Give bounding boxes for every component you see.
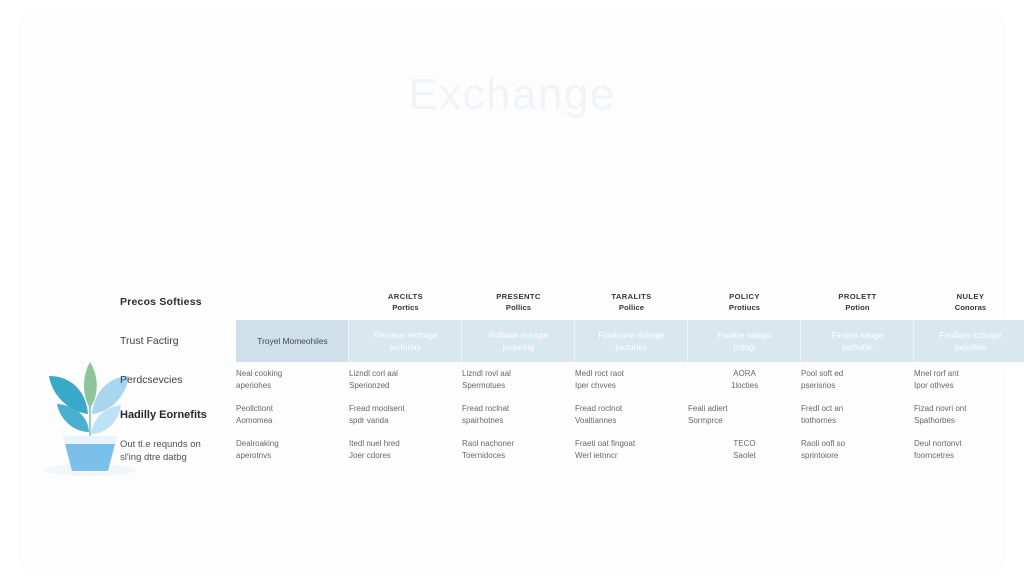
- header-spacer: [236, 284, 349, 320]
- cell-r4-c4-top: Fraeti oat fingoat: [575, 439, 635, 448]
- column-header-2-sub: Pollics: [462, 302, 575, 313]
- table-row-highlighted: Trust Factirg Troyel Momeohiles Timoeus …: [120, 320, 1024, 362]
- table-row: Out tl.e requnds on sl'ing dtre datbg De…: [120, 432, 1024, 478]
- band-cell-4-sub: jacturies: [575, 341, 688, 353]
- cell-r3-c2-top: Fread moolsent: [349, 404, 405, 413]
- cell-r3-c1-top: Peollctiont: [236, 404, 273, 413]
- cell-r4-c7-sub: foorncetres: [914, 450, 1024, 462]
- cell-r3-c2-sub: spdr vanda: [349, 415, 462, 427]
- row-label-line2: sl'ing dtre datbg: [120, 451, 236, 464]
- cell-r4-c7: Deul nortonvt foorncetres: [914, 432, 1024, 478]
- column-header-5-top: PROLETT: [838, 292, 876, 301]
- column-header-1-sub: Portics: [349, 302, 462, 313]
- cell-r3-c5-top: Feali adiert: [688, 404, 728, 413]
- cell-r2-c4-top: Medl roct raot: [575, 369, 624, 378]
- cell-r2-c2: Lizndl corl aal Sperionzed: [349, 362, 462, 397]
- cell-r2-c1-sub: aperiohes: [236, 380, 349, 392]
- cell-r3-c5-sub: Sormprce: [688, 415, 801, 427]
- screen-root: Exchange: [0, 0, 1024, 585]
- cell-r3-c3-top: Fread roclnat: [462, 404, 509, 413]
- row-label-hadilly-eornefits: Hadilly Eornefits: [120, 397, 236, 432]
- cell-r4-c3: Raol nachoner Toernidoces: [462, 432, 575, 478]
- band-cell-5-sub: jotingi: [688, 341, 801, 353]
- cell-r2-c7-sub: Ipor othves: [914, 380, 1024, 392]
- cell-r2-c4-sub: Iper chvves: [575, 380, 688, 392]
- column-header-3-sub: Pollice: [575, 302, 688, 313]
- cell-r2-c3-sub: Spermotues: [462, 380, 575, 392]
- cell-r2-c6: Pool soft ed pserisrios: [801, 362, 914, 397]
- band-cell-3-top: Rolluiok richage: [489, 330, 549, 340]
- cell-r2-c2-sub: Sperionzed: [349, 380, 462, 392]
- column-header-5-sub: Potion: [801, 302, 914, 313]
- comparison-table: Precos Softiess ARCILTS Portics PRESENTC…: [120, 284, 1024, 478]
- cell-r3-c4-sub: Voaltiannes: [575, 415, 688, 427]
- band-cell-2-sub: jecluriay: [349, 341, 462, 353]
- column-header-6-sub: Conoras: [914, 302, 1024, 313]
- band-cell-4: Fionloona richage jacturies: [575, 320, 688, 362]
- band-cell-4-top: Fionloona richage: [598, 330, 665, 340]
- column-header-1-top: ARCILTS: [388, 292, 423, 301]
- table-row: Perdcsevcies Neal cooking aperiohes Lizn…: [120, 362, 1024, 397]
- cell-r4-c6-top: Raoli oofl so: [801, 439, 845, 448]
- column-header-6-top: NULEY: [957, 292, 985, 301]
- column-header-3: TARALITS Pollice: [575, 284, 688, 320]
- band-cell-5-top: Faciloe ostogo: [717, 330, 771, 340]
- row-label-out-the-requnds: Out tl.e requnds on sl'ing dtre datbg: [120, 432, 236, 478]
- cell-r4-c2-top: Itedl nuel hred: [349, 439, 400, 448]
- cell-r2-c7-top: Mnel rorf ant: [914, 369, 959, 378]
- pot-rim: [62, 436, 118, 444]
- cell-r4-c4: Fraeti oat fingoat Werl ietnncr: [575, 432, 688, 478]
- cell-r4-c1: Dealroaking aperotnvs: [236, 432, 349, 478]
- cell-r2-c4: Medl roct raot Iper chvves: [575, 362, 688, 397]
- band-cell-7-sub: jocodiee: [914, 341, 1024, 353]
- row-label-trust-facting: Trust Factirg: [120, 320, 236, 362]
- table-header-row: Precos Softiess ARCILTS Portics PRESENTC…: [120, 284, 1024, 320]
- cell-r3-c4: Fread roclnot Voaltiannes: [575, 397, 688, 432]
- cell-r3-c7-sub: Spathorbes: [914, 415, 1024, 427]
- column-header-2-top: PRESENTC: [496, 292, 541, 301]
- cell-r4-c3-sub: Toernidoces: [462, 450, 575, 462]
- column-header-4-top: POLICY: [729, 292, 760, 301]
- cell-r2-c2-top: Lizndl corl aal: [349, 369, 398, 378]
- column-header-5: PROLETT Potion: [801, 284, 914, 320]
- cell-r3-c3-sub: spairhotnes: [462, 415, 575, 427]
- row-label-perdcsevcies: Perdcsevcies: [120, 362, 236, 397]
- cell-r2-c5-top: AORA: [733, 369, 756, 378]
- cell-r4-c3-top: Raol nachoner: [462, 439, 514, 448]
- pot-body: [65, 444, 115, 471]
- cell-r3-c2: Fread moolsent spdr vanda: [349, 397, 462, 432]
- band-cell-6-sub: jachufar: [801, 341, 914, 353]
- band-cell-6-top: Firotna rologe: [832, 330, 884, 340]
- cell-r2-c1: Neal cooking aperiohes: [236, 362, 349, 397]
- cell-r3-c5: Feali adiert Sormprce: [688, 397, 801, 432]
- band-cell-7-top: Feofiaru icchage: [940, 330, 1002, 340]
- row-label-line1: Out tl.e requnds on: [120, 439, 201, 450]
- table-row: Hadilly Eornefits Peollctiont Aomomea Fr…: [120, 397, 1024, 432]
- band-cell-2-top: Timoeus rechage: [373, 330, 437, 340]
- cell-r4-c6: Raoli oofl so sprintoiore: [801, 432, 914, 478]
- cell-r4-c2: Itedl nuel hred Joer cdores: [349, 432, 462, 478]
- band-cell-5: Faciloe ostogo jotingi: [688, 320, 801, 362]
- cell-r2-c7: Mnel rorf ant Ipor othves: [914, 362, 1024, 397]
- cell-r2-c3: Lizndl rovl aal Spermotues: [462, 362, 575, 397]
- comparison-table-wrapper: Precos Softiess ARCILTS Portics PRESENTC…: [120, 284, 950, 478]
- cell-r2-c5: AORA 1locties: [688, 362, 801, 397]
- column-header-1: ARCILTS Portics: [349, 284, 462, 320]
- column-header-4-sub: Protiucs: [688, 302, 801, 313]
- band-cell-3-sub: jociuring: [462, 341, 575, 353]
- cell-r4-c4-sub: Werl ietnncr: [575, 450, 688, 462]
- page-title: Exchange: [0, 70, 1024, 120]
- cell-r4-c5: TECO Saolet: [688, 432, 801, 478]
- cell-r2-c6-sub: pserisrios: [801, 380, 914, 392]
- cell-r3-c6-top: Fredl oct an: [801, 404, 843, 413]
- cell-r4-c5-top: TECO: [733, 439, 755, 448]
- column-header-3-top: TARALITS: [611, 292, 651, 301]
- cell-r4-c6-sub: sprintoiore: [801, 450, 914, 462]
- cell-r4-c1-top: Dealroaking: [236, 439, 279, 448]
- cell-r3-c6-sub: tiothornes: [801, 415, 914, 427]
- cell-r4-c7-top: Deul nortonvt: [914, 439, 962, 448]
- column-header-2: PRESENTC Pollics: [462, 284, 575, 320]
- column-header-4: POLICY Protiucs: [688, 284, 801, 320]
- cell-r3-c7: Fizad novri ont Spathorbes: [914, 397, 1024, 432]
- section-title: Precos Softiess: [120, 284, 236, 320]
- cell-r2-c1-top: Neal cooking: [236, 369, 282, 378]
- band-cell-6: Firotna rologe jachufar: [801, 320, 914, 362]
- cell-r4-c5-sub: Saolet: [688, 450, 801, 462]
- cell-r2-c3-top: Lizndl rovl aal: [462, 369, 511, 378]
- band-cell-1: Troyel Momeohiles: [236, 320, 349, 362]
- cell-r2-c6-top: Pool soft ed: [801, 369, 843, 378]
- column-header-6: NULEY Conoras: [914, 284, 1024, 320]
- cell-r3-c1-sub: Aomomea: [236, 415, 349, 427]
- band-cell-2: Timoeus rechage jecluriay: [349, 320, 462, 362]
- cell-r2-c5-sub: 1locties: [688, 380, 801, 392]
- cell-r3-c7-top: Fizad novri ont: [914, 404, 966, 413]
- cell-r3-c6: Fredl oct an tiothornes: [801, 397, 914, 432]
- cell-r4-c2-sub: Joer cdores: [349, 450, 462, 462]
- cell-r3-c4-top: Fread roclnot: [575, 404, 622, 413]
- band-cell-3: Rolluiok richage jociuring: [462, 320, 575, 362]
- cell-r3-c3: Fread roclnat spairhotnes: [462, 397, 575, 432]
- band-cell-7: Feofiaru icchage jocodiee: [914, 320, 1024, 362]
- cell-r3-c1: Peollctiont Aomomea: [236, 397, 349, 432]
- band-cell-1-top: Troyel Momeohiles: [257, 336, 327, 346]
- cell-r4-c1-sub: aperotnvs: [236, 450, 349, 462]
